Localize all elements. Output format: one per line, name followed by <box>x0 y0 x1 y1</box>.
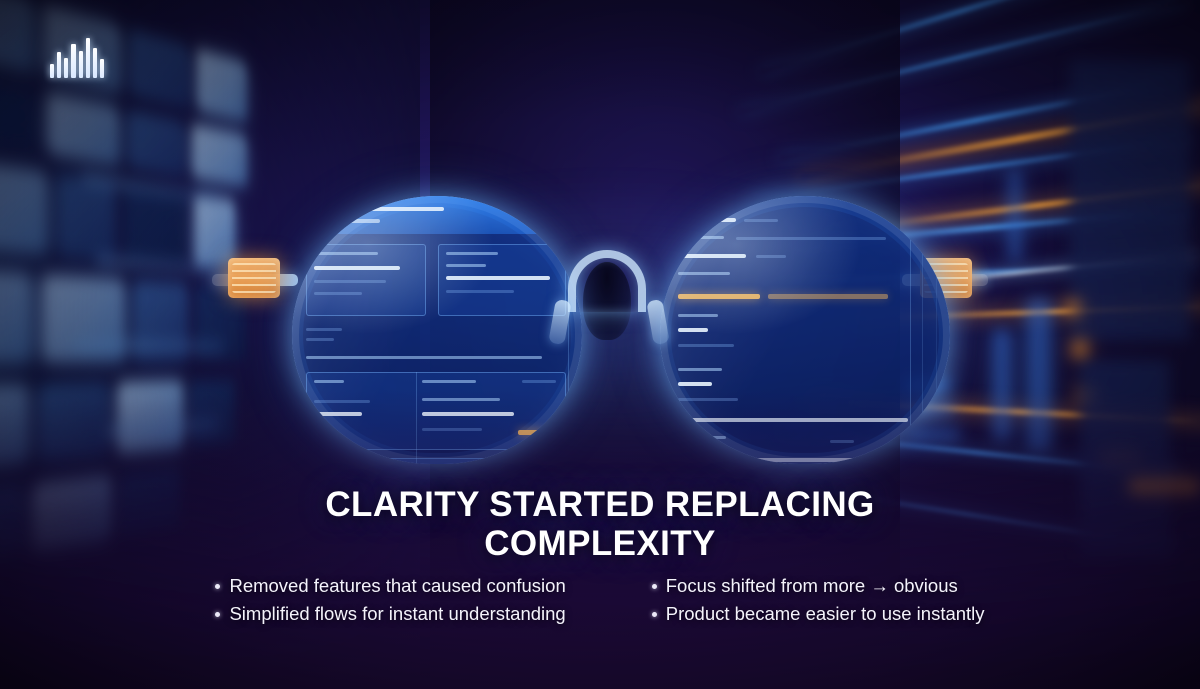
logo-bar-2 <box>64 58 68 78</box>
bullet-column-left: Removed features that caused confusion S… <box>215 574 565 627</box>
list-item: Focus shifted from more → obvious <box>652 574 985 599</box>
logo-bar-0 <box>50 64 54 78</box>
headline-block: CLARITY STARTED REPLACING COMPLEXITY <box>0 486 1200 563</box>
page-title: CLARITY STARTED REPLACING COMPLEXITY <box>0 486 1200 563</box>
logo-bar-4 <box>79 51 83 78</box>
bullet-columns: Removed features that caused confusion S… <box>0 574 1200 627</box>
list-item: Removed features that caused confusion <box>215 574 565 599</box>
bullet-column-right: Focus shifted from more → obvious Produc… <box>652 574 985 627</box>
bullet-text: Focus shifted from more → obvious <box>666 574 958 599</box>
list-item: Product became easier to use instantly <box>652 602 985 627</box>
bullet-dot-icon <box>652 612 657 617</box>
logo-bar-6 <box>93 48 97 78</box>
bullet-text: Product became easier to use instantly <box>666 602 985 627</box>
bullet-text: Simplified flows for instant understandi… <box>229 602 565 627</box>
bullet-dot-icon <box>215 584 220 589</box>
bullet-text: Removed features that caused confusion <box>229 574 565 599</box>
headline-line-1: CLARITY STARTED REPLACING <box>325 485 874 524</box>
logo-bar-5 <box>86 38 90 78</box>
logo-bar-3 <box>71 44 75 78</box>
waveform-bars-logo[interactable] <box>50 30 104 78</box>
logo-bar-7 <box>100 59 104 78</box>
bullet-dot-icon <box>215 612 220 617</box>
list-item: Simplified flows for instant understandi… <box>215 602 565 627</box>
headline-line-2: COMPLEXITY <box>0 525 1200 564</box>
bullet-dot-icon <box>652 584 657 589</box>
slide-canvas: CLARITY STARTED REPLACING COMPLEXITY Rem… <box>0 0 1200 689</box>
logo-bar-1 <box>57 52 61 78</box>
